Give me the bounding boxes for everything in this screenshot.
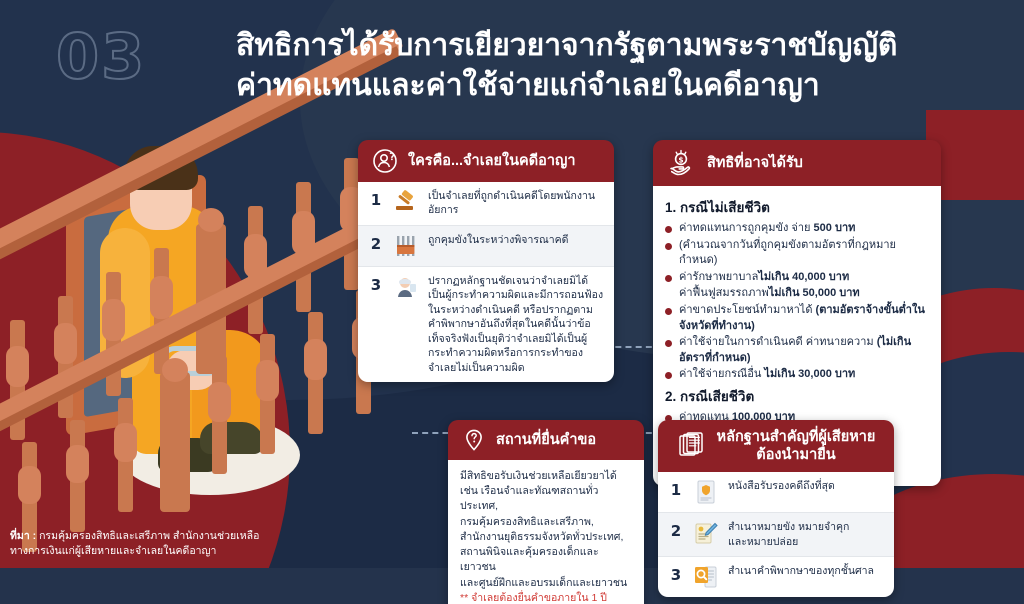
card-who-is-defendant: ใครคือ...จำเลยในคดีอาญา 1 เป็นจำเลยที่ถู… [358, 140, 614, 382]
place-line: สำนักงานยุติธรรมจังหวัดทั่วประเทศ, [460, 530, 632, 545]
place-line: กรมคุ้มครองสิทธิและเสรีภาพ, [460, 515, 632, 530]
source-line-2: ทางการเงินแก่ผู้เสียหายและจำเลยในคดีอาญา [10, 544, 340, 560]
item-text: ค่าทดแทนการถูกคุมขัง จ่าย [679, 222, 814, 234]
judge-icon [393, 274, 419, 300]
baluster [260, 334, 275, 454]
figure-shoe-right [200, 422, 264, 454]
baluster [212, 356, 227, 474]
list-item: ค่าฟื้นฟูสมรรถภาพไม่เกิน 50,000 บาท [665, 286, 931, 302]
item-text: ถูกคุมขังในระหว่างพิจารณาคดี [428, 233, 568, 247]
source-credit: ที่มา : กรมคุ้มครองสิทธิและเสรีภาพ สำนัก… [10, 529, 340, 561]
card-title-line-2: ต้องนำมายื่น [717, 446, 876, 464]
card-header: $ สิทธิที่อาจได้รับ [653, 140, 941, 186]
section-heading: 1. กรณีไม่เสียชีวิต [665, 196, 931, 218]
documents-icon [677, 431, 707, 461]
list-item: 1 เป็นจำเลยที่ถูกดำเนินคดีโดยพนักงานอัยก… [358, 182, 614, 226]
card-body: 1 เป็นจำเลยที่ถูกดำเนินคดีโดยพนักงานอัยก… [358, 182, 614, 382]
card-required-evidence: หลักฐานสำคัญที่ผู้เสียหาย ต้องนำมายื่น 1… [658, 420, 894, 597]
source-line-1: ที่มา : กรมคุ้มครองสิทธิและเสรีภาพ สำนัก… [10, 529, 340, 545]
source-text-1: กรมคุ้มครองสิทธิและเสรีภาพ สำนักงานช่วยเ… [36, 530, 259, 542]
rights-list-alive: ค่าทดแทนการถูกคุมขัง จ่าย 500 บาท (คำนวณ… [665, 221, 931, 383]
list-item: ค่าขาดประโยชน์ทำมาหาได้ (ตามอัตราจ้างขั้… [665, 303, 931, 334]
list-item: 2 ถูกคุมขังในระหว่างพิจารณาคดี [358, 226, 614, 267]
svg-text:$: $ [678, 156, 683, 165]
newel-post [160, 372, 190, 512]
place-line: มีสิทธิขอรับเงินช่วยเหลือเยียวยาได้ [460, 469, 632, 484]
list-item: 1 หนังสือรับรองคดีถึงที่สุด [658, 472, 894, 513]
place-line: และศูนย์ฝึกและอบรมเด็กและเยาวชน [460, 576, 632, 591]
card-header: สถานที่ยื่นคำขอ [448, 420, 644, 460]
card-header: ใครคือ...จำเลยในคดีอาญา [358, 140, 614, 182]
item-emphasis: 500 บาท [814, 222, 856, 234]
baluster [154, 248, 169, 374]
newel-cap [198, 208, 224, 232]
card-application-place: สถานที่ยื่นคำขอ มีสิทธิขอรับเงินช่วยเหลื… [448, 420, 644, 604]
item-text: หนังสือรับรองคดีถึงที่สุด [728, 479, 835, 493]
title-line-1: สิทธิการได้รับการเยียวยาจากรัฐตามพระราชบ… [236, 26, 1006, 66]
item-text: ปรากฏหลักฐานชัดเจนว่าจำเลยมิได้เป็นผู้กร… [428, 274, 604, 375]
item-number: 2 [368, 233, 384, 253]
title-line-2: ค่าทดแทนและค่าใช้จ่ายแก่จำเลยในคดีอาญา [236, 66, 1006, 106]
prison-bars-icon [393, 233, 419, 259]
item-text: (คำนวณจากวันที่ถูกคุมขังตามอัตราที่กฎหมา… [679, 239, 896, 267]
list-item: ค่าใช้จ่ายกรณีอื่น ไม่เกิน 30,000 บาท [665, 367, 931, 383]
baluster [70, 420, 85, 532]
card-title: หลักฐานสำคัญที่ผู้เสียหาย ต้องนำมายื่น [717, 428, 876, 464]
verdict-search-icon [693, 564, 719, 590]
item-text: ค่าใช้จ่ายกรณีอื่น [679, 368, 764, 380]
card-body: มีสิทธิขอรับเงินช่วยเหลือเยียวยาได้ เช่น… [448, 460, 644, 604]
place-line: เช่น เรือนจำและทัณฑสถานทั่วประเทศ, [460, 484, 632, 514]
list-item: ค่ารักษาพยาบาลไม่เกิน 40,000 บาท [665, 270, 931, 286]
page-title: สิทธิการได้รับการเยียวยาจากรัฐตามพระราชบ… [236, 26, 1006, 106]
list-item: ค่าใช้จ่ายในการดำเนินคดี ค่าทนายความ (ไม… [665, 335, 931, 366]
warrant-icon [693, 520, 719, 546]
infographic-root: 03 สิทธิการได้รับการเยียวยาจากรัฐตามพระร… [0, 0, 1024, 604]
item-emphasis: ไม่เกิน 40,000 บาท [758, 271, 849, 283]
prisoner-illustration [0, 120, 420, 590]
hand-coin-icon: $ [667, 148, 697, 178]
item-text: สำเนาคำพิพากษาของทุกชั้นศาล [728, 564, 874, 578]
item-text: สำเนาหมายขัง หมายจำคุก และหมายปล่อย [728, 520, 849, 549]
item-text-value: สำเนาหมายขัง หมายจำคุก และหมายปล่อย [728, 521, 849, 547]
list-item: 3 ปรากฏหลักฐานชัดเจนว่าจำเลยมิได้เป็นผู้… [358, 267, 614, 382]
card-title-line-1: หลักฐานสำคัญที่ผู้เสียหาย [717, 428, 876, 446]
source-label: ที่มา : [10, 530, 36, 542]
certificate-icon [693, 479, 719, 505]
baluster [118, 398, 133, 512]
item-text: ค่าขาดประโยชน์ทำมาหาได้ [679, 304, 816, 316]
item-number: 1 [668, 479, 684, 499]
item-number: 2 [668, 520, 684, 540]
item-emphasis: ไม่เกิน 50,000 บาท [769, 287, 860, 299]
item-text: ค่ารักษาพยาบาล [679, 271, 758, 283]
item-number: 3 [668, 564, 684, 584]
item-number: 1 [368, 189, 384, 209]
section-heading: 2. กรณีเสียชีวิต [665, 385, 931, 407]
card-title: สิทธิที่อาจได้รับ [707, 154, 803, 172]
item-text: เป็นจำเลยที่ถูกดำเนินคดีโดยพนักงานอัยการ [428, 189, 604, 218]
item-text: ค่าใช้จ่ายในการดำเนินคดี ค่าทนายความ [679, 336, 877, 348]
place-line: สถานพินิจและคุ้มครองเด็กและเยาวชน [460, 545, 632, 575]
list-item: ค่าทดแทนการถูกคุมขัง จ่าย 500 บาท [665, 221, 931, 237]
list-item: (คำนวณจากวันที่ถูกคุมขังตามอัตราที่กฎหมา… [665, 238, 931, 269]
question-pin-icon [462, 428, 486, 452]
person-question-icon [372, 148, 398, 174]
gavel-icon [393, 189, 419, 215]
baluster [308, 312, 323, 434]
item-emphasis: ไม่เกิน 30,000 บาท [764, 368, 855, 380]
newel-cap [162, 358, 188, 382]
card-header: หลักฐานสำคัญที่ผู้เสียหาย ต้องนำมายื่น [658, 420, 894, 472]
list-item: 3 สำเนาคำพิพากษาของทุกชั้นศาล [658, 557, 894, 597]
section-number: 03 [56, 20, 146, 93]
card-title: ใครคือ...จำเลยในคดีอาญา [408, 152, 576, 170]
place-note: ** จำเลยต้องยื่นคำขอภายใน 1 ปี [460, 591, 632, 604]
card-title: สถานที่ยื่นคำขอ [496, 431, 596, 449]
item-number: 3 [368, 274, 384, 294]
baluster [106, 272, 121, 396]
item-text: ค่าฟื้นฟูสมรรถภาพ [679, 287, 769, 299]
list-item: 2 สำเนาหมายขัง หมายจำคุก และหมายปล่อย [658, 513, 894, 557]
card-body: 1 หนังสือรับรองคดีถึงที่สุด 2 สำเนาหมายข… [658, 472, 894, 597]
